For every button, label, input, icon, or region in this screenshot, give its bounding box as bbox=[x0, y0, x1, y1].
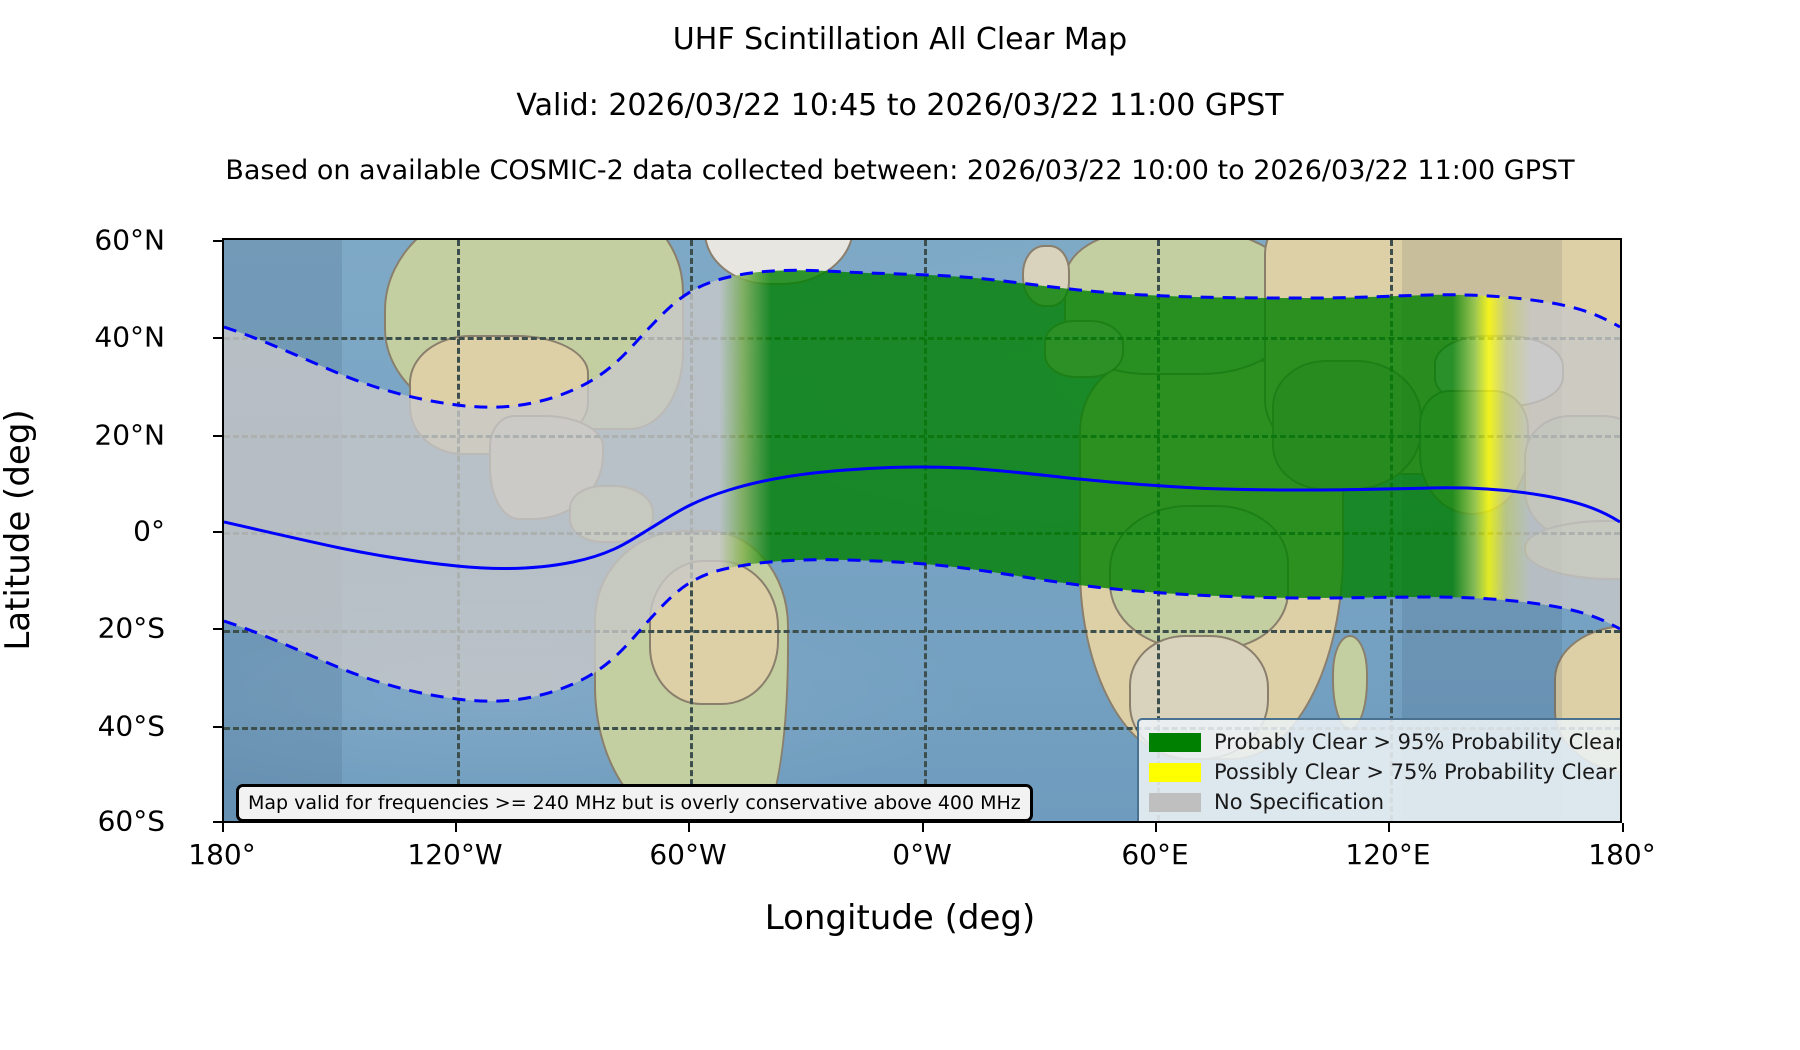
legend-swatch-probably-clear bbox=[1149, 733, 1201, 752]
xtick-label-6: 180° bbox=[1472, 838, 1772, 871]
y-axis-title: Latitude (deg) bbox=[0, 409, 38, 650]
page-title: UHF Scintillation All Clear Map bbox=[0, 22, 1800, 57]
ytick-label-0: 60°N bbox=[0, 224, 179, 257]
ytick-label-6: 60°S bbox=[0, 805, 179, 838]
xtick-mark-0 bbox=[222, 823, 224, 832]
map-plot-area[interactable]: Probably Clear > 95% Probability Clear P… bbox=[222, 238, 1622, 823]
xtick-mark-3 bbox=[922, 823, 924, 832]
legend-swatch-no-specification bbox=[1149, 793, 1201, 812]
legend-swatch-possibly-clear bbox=[1149, 763, 1201, 782]
legend-label-no-specification: No Specification bbox=[1214, 790, 1384, 814]
legend-row-no-specification: No Specification bbox=[1149, 787, 1622, 817]
xtick-mark-5 bbox=[1388, 823, 1390, 832]
figure-root: UHF Scintillation All Clear Map Valid: 2… bbox=[0, 0, 1800, 1050]
valid-period: Valid: 2026/03/22 10:45 to 2026/03/22 11… bbox=[0, 88, 1800, 123]
ytick-label-1: 40°N bbox=[0, 321, 179, 354]
ytick-mark-4 bbox=[213, 628, 222, 630]
xtick-mark-1 bbox=[455, 823, 457, 832]
legend-row-probably-clear: Probably Clear > 95% Probability Clear bbox=[1149, 727, 1622, 757]
legend-row-possibly-clear: Possibly Clear > 75% Probability Clear bbox=[1149, 757, 1622, 787]
xtick-mark-4 bbox=[1155, 823, 1157, 832]
ytick-mark-2 bbox=[213, 435, 222, 437]
ytick-mark-5 bbox=[213, 726, 222, 728]
legend-label-probably-clear: Probably Clear > 95% Probability Clear bbox=[1214, 730, 1622, 754]
xtick-mark-6 bbox=[1622, 823, 1624, 832]
legend: Probably Clear > 95% Probability Clear P… bbox=[1137, 718, 1622, 823]
xtick-mark-2 bbox=[688, 823, 690, 832]
x-axis-title: Longitude (deg) bbox=[0, 898, 1800, 938]
ytick-mark-3 bbox=[213, 531, 222, 533]
frequency-note: Map valid for frequencies >= 240 MHz but… bbox=[236, 784, 1033, 822]
data-basis: Based on available COSMIC-2 data collect… bbox=[0, 155, 1800, 186]
ytick-mark-1 bbox=[213, 337, 222, 339]
ytick-mark-0 bbox=[213, 240, 222, 242]
scintillation-swath bbox=[224, 270, 1620, 701]
legend-label-possibly-clear: Possibly Clear > 75% Probability Clear bbox=[1214, 760, 1617, 784]
ytick-mark-6 bbox=[213, 821, 222, 823]
ytick-label-5: 40°S bbox=[0, 710, 179, 743]
